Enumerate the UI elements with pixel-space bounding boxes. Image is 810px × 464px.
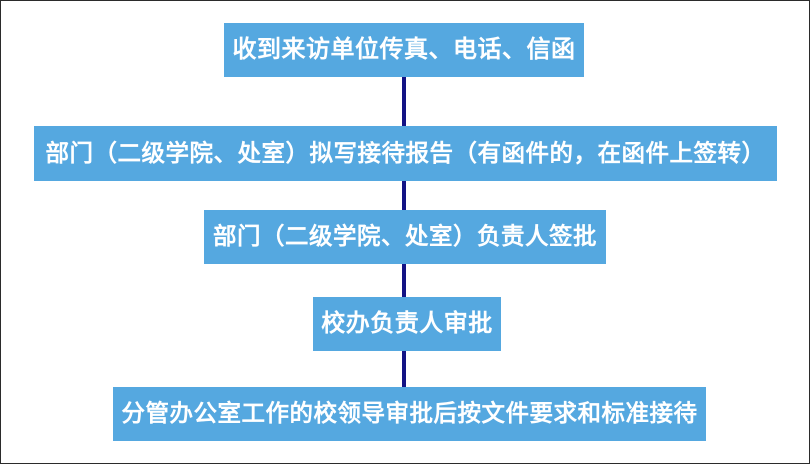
flow-node-school-office-approval[interactable]: 校办负责人审批 xyxy=(313,297,501,351)
flow-node-draft-report[interactable]: 部门（二级学院、处室）拟写接待报告（有函件的，在函件上签转） xyxy=(34,126,777,181)
flow-node-receive-request[interactable]: 收到来访单位传真、电话、信函 xyxy=(224,23,584,77)
flow-node-school-leader-approval-reception[interactable]: 分管办公室工作的校领导审批后按文件要求和标准接待 xyxy=(113,387,706,441)
flow-connector-1-2 xyxy=(402,75,406,128)
flow-connector-4-5 xyxy=(402,349,406,389)
flowchart-canvas: 收到来访单位传真、电话、信函 部门（二级学院、处室）拟写接待报告（有函件的，在函… xyxy=(0,0,810,464)
flow-connector-2-3 xyxy=(402,179,406,212)
flow-connector-3-4 xyxy=(402,262,406,299)
flow-node-department-head-approval[interactable]: 部门（二级学院、处室）负责人签批 xyxy=(204,210,606,264)
